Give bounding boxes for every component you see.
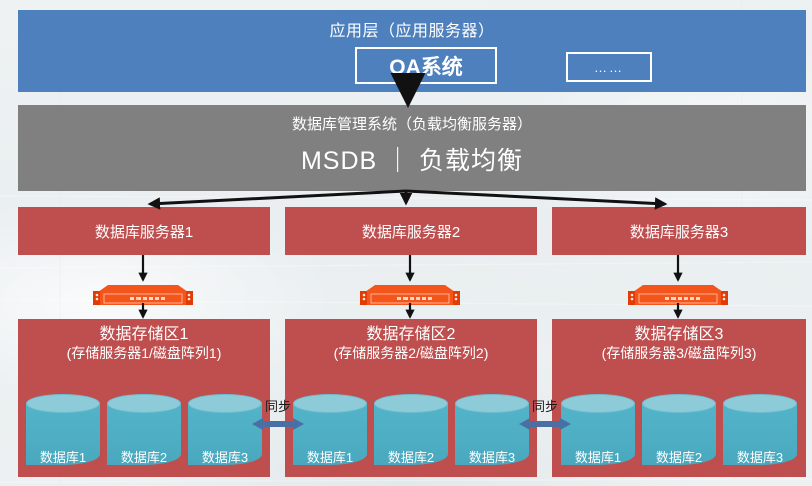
sync-label-1: 同步	[250, 396, 306, 415]
storage-area-1[interactable]: 数据存储区1 (存储服务器1/磁盘阵列1) 数据库1 数据库2 数据库3	[18, 319, 270, 477]
cylinder-label: 数据库2	[374, 447, 448, 466]
database-server-box-1[interactable]: 数据库服务器1	[18, 207, 270, 255]
storage-area-subtitle-3: (存储服务器3/磁盘阵列3)	[552, 346, 806, 361]
database-cylinder-row-1: 数据库1 数据库2 数据库3	[18, 394, 270, 470]
dbms-layer: 数据库管理系统（负载均衡服务器） MSDB ｜ 负载均衡	[18, 105, 806, 191]
storage-area-name-2: 数据存储区2	[367, 326, 456, 343]
dbms-layer-title: 数据库管理系统（负载均衡服务器）	[18, 113, 806, 134]
sync-connector-2: 同步	[517, 396, 573, 440]
more-apps-box[interactable]: ……	[566, 52, 652, 82]
cylinder-label: 数据库3	[455, 447, 529, 466]
database-cylinder[interactable]: 数据库2	[642, 394, 716, 470]
connector-dbms-to-server-3	[406, 191, 665, 204]
database-server-label-2: 数据库服务器2	[362, 221, 460, 242]
application-layer: 应用层（应用服务器） OA系统 ……	[18, 10, 806, 92]
storage-area-subtitle-2: (存储服务器2/磁盘阵列2)	[285, 346, 537, 361]
database-cylinder-row-2: 数据库1 数据库2 数据库3	[285, 394, 537, 470]
oa-system-box[interactable]: OA系统	[355, 47, 497, 84]
storage-area-3[interactable]: 数据存储区3 (存储服务器3/磁盘阵列3) 数据库1 数据库2 数据库3	[552, 319, 806, 477]
storage-area-title-1: 数据存储区1 (存储服务器1/磁盘阵列1)	[18, 327, 270, 360]
storage-area-title-3: 数据存储区3 (存储服务器3/磁盘阵列3)	[552, 327, 806, 360]
storage-area-2[interactable]: 数据存储区2 (存储服务器2/磁盘阵列2) 数据库1 数据库2 数据库3	[285, 319, 537, 477]
storage-area-title-2: 数据存储区2 (存储服务器2/磁盘阵列2)	[285, 327, 537, 360]
storage-area-name-1: 数据存储区1	[100, 326, 189, 343]
server-rack-icon-2	[357, 281, 463, 307]
database-cylinder[interactable]: 数据库2	[374, 394, 448, 470]
database-cylinder-row-3: 数据库1 数据库2 数据库3	[552, 394, 806, 470]
sync-connector-1: 同步	[250, 396, 306, 440]
cylinder-top	[26, 394, 100, 413]
cylinder-label: 数据库2	[107, 447, 181, 466]
database-server-label-3: 数据库服务器3	[630, 221, 728, 242]
oa-system-label: OA系统	[389, 51, 463, 81]
dbms-main-label: MSDB ｜ 负载均衡	[18, 141, 806, 177]
cylinder-label: 数据库3	[723, 447, 797, 466]
cylinder-top	[723, 394, 797, 413]
connector-dbms-to-server-1	[150, 191, 406, 204]
cylinder-top	[642, 394, 716, 413]
cylinder-top	[374, 394, 448, 413]
database-cylinder[interactable]: 数据库1	[26, 394, 100, 470]
database-cylinder[interactable]: 数据库2	[107, 394, 181, 470]
storage-area-subtitle-1: (存储服务器1/磁盘阵列1)	[18, 346, 270, 361]
database-server-label-1: 数据库服务器1	[95, 221, 193, 242]
sync-double-arrow-icon-2	[519, 416, 571, 432]
server-rack-icon-3	[625, 281, 731, 307]
cylinder-label: 数据库2	[642, 447, 716, 466]
cylinder-label: 数据库1	[293, 447, 367, 466]
cylinder-label: 数据库1	[561, 447, 635, 466]
server-rack-icon-1	[90, 281, 196, 307]
database-server-box-2[interactable]: 数据库服务器2	[285, 207, 537, 255]
architecture-diagram: 应用层（应用服务器） OA系统 …… 数据库管理系统（负载均衡服务器） MSDB…	[0, 0, 812, 486]
sync-double-arrow-icon-1	[252, 416, 304, 432]
sync-label-2: 同步	[517, 396, 573, 415]
cylinder-label: 数据库3	[188, 447, 262, 466]
storage-area-name-3: 数据存储区3	[635, 326, 724, 343]
more-apps-label: ……	[594, 60, 624, 75]
application-layer-title: 应用层（应用服务器）	[18, 17, 806, 41]
database-server-box-3[interactable]: 数据库服务器3	[552, 207, 806, 255]
cylinder-top	[107, 394, 181, 413]
cylinder-label: 数据库1	[26, 447, 100, 466]
database-cylinder[interactable]: 数据库3	[723, 394, 797, 470]
